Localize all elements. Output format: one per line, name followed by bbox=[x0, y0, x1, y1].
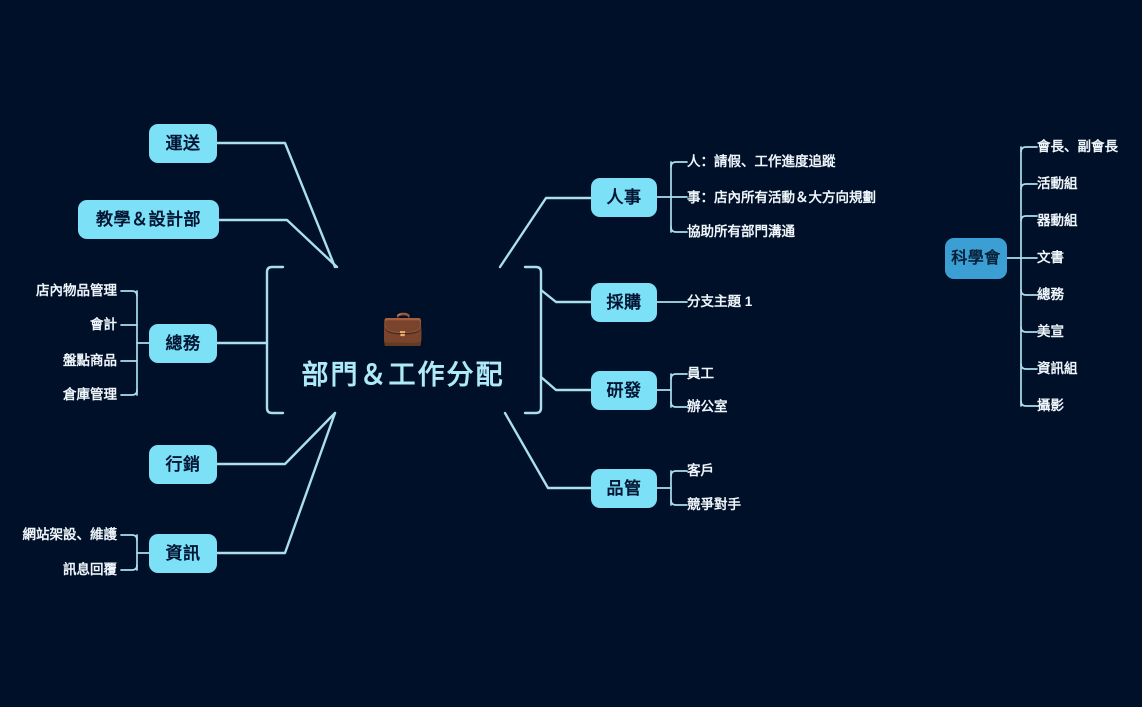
branch-node-marketing[interactable]: 行銷 bbox=[149, 445, 217, 484]
leaf-label: 活動組 bbox=[1037, 176, 1078, 191]
branch-label: 研發 bbox=[607, 382, 642, 399]
leaf-employee[interactable]: 員工 bbox=[687, 367, 714, 381]
leaf-it-group[interactable]: 資訊組 bbox=[1037, 362, 1078, 376]
leaf-documentation[interactable]: 文書 bbox=[1037, 251, 1064, 265]
leaf-label: 協助所有部門溝通 bbox=[687, 224, 795, 239]
branch-node-hr[interactable]: 人事 bbox=[591, 178, 657, 217]
leaf-label: 分支主題 1 bbox=[687, 294, 752, 309]
branch-label: 品管 bbox=[607, 480, 642, 497]
leaf-general-affairs-club[interactable]: 總務 bbox=[1037, 288, 1064, 302]
leaf-label: 店內物品管理 bbox=[36, 283, 117, 298]
branch-node-quality-control[interactable]: 品管 bbox=[591, 469, 657, 508]
leaf-label: 會計 bbox=[90, 317, 117, 332]
leaf-label: 總務 bbox=[1037, 287, 1064, 302]
leaf-label: 客戶 bbox=[687, 463, 714, 478]
leaf-label: 會長、副會長 bbox=[1037, 139, 1118, 154]
leaf-label: 網站架設、維護 bbox=[23, 527, 118, 542]
branch-label: 運送 bbox=[166, 135, 201, 152]
leaf-label: 攝影 bbox=[1037, 398, 1064, 413]
leaf-activity-group[interactable]: 活動組 bbox=[1037, 177, 1078, 191]
branch-label: 資訊 bbox=[166, 545, 201, 562]
leaf-label: 美宣 bbox=[1037, 324, 1064, 339]
leaf-office[interactable]: 辦公室 bbox=[687, 400, 728, 414]
branch-node-teaching-design[interactable]: 教學＆設計部 bbox=[78, 200, 219, 239]
branch-label: 教學＆設計部 bbox=[96, 211, 201, 228]
leaf-stock-count[interactable]: 盤點商品 bbox=[0, 354, 117, 368]
leaf-label: 器動組 bbox=[1037, 213, 1078, 228]
page-title: 部門＆工作分配 bbox=[302, 353, 505, 392]
branch-label: 採購 bbox=[607, 294, 642, 311]
leaf-competitor[interactable]: 競爭對手 bbox=[687, 498, 741, 512]
leaf-label: 辦公室 bbox=[687, 399, 728, 414]
leaf-publicity-art[interactable]: 美宣 bbox=[1037, 325, 1064, 339]
leaf-assist-dept-communication[interactable]: 協助所有部門溝通 bbox=[687, 225, 795, 239]
leaf-label: 倉庫管理 bbox=[63, 387, 117, 402]
leaf-label: 競爭對手 bbox=[687, 497, 741, 512]
branch-node-it[interactable]: 資訊 bbox=[149, 534, 217, 573]
branch-node-science-club[interactable]: 科學會 bbox=[945, 238, 1007, 279]
leaf-label: 員工 bbox=[687, 366, 714, 381]
branch-label: 行銷 bbox=[166, 456, 201, 473]
leaf-label: 文書 bbox=[1037, 250, 1064, 265]
leaf-photography[interactable]: 攝影 bbox=[1037, 399, 1064, 413]
branch-label: 人事 bbox=[607, 189, 642, 206]
leaf-message-reply[interactable]: 訊息回覆 bbox=[0, 563, 117, 577]
leaf-accounting[interactable]: 會計 bbox=[0, 318, 117, 332]
leaf-label: 訊息回覆 bbox=[63, 562, 117, 577]
leaf-equipment-group[interactable]: 器動組 bbox=[1037, 214, 1078, 228]
leaf-store-item-management[interactable]: 店內物品管理 bbox=[0, 284, 117, 298]
leaf-people-leave-progress[interactable]: 人：請假、工作進度追蹤 bbox=[687, 155, 836, 169]
leaf-label: 事：店內所有活動＆大方向規劃 bbox=[687, 190, 876, 205]
leaf-warehouse-management[interactable]: 倉庫管理 bbox=[0, 388, 117, 402]
briefcase-icon: 💼 bbox=[382, 311, 424, 345]
branch-label: 總務 bbox=[166, 335, 201, 352]
branch-node-purchasing[interactable]: 採購 bbox=[591, 283, 657, 322]
leaf-president-vice-president[interactable]: 會長、副會長 bbox=[1037, 140, 1118, 154]
leaf-label: 盤點商品 bbox=[63, 353, 117, 368]
root-node[interactable]: 💼 部門＆工作分配 bbox=[266, 295, 540, 407]
mindmap-canvas: 💼 部門＆工作分配 運送 教學＆設計部 總務 行銷 資訊 店內物品管理 會計 盤… bbox=[0, 0, 1142, 707]
leaf-events-direction-planning[interactable]: 事：店內所有活動＆大方向規劃 bbox=[687, 191, 876, 205]
branch-label: 科學會 bbox=[951, 251, 1001, 267]
branch-node-transport[interactable]: 運送 bbox=[149, 124, 217, 163]
branch-node-general-affairs[interactable]: 總務 bbox=[149, 324, 217, 363]
leaf-label: 人：請假、工作進度追蹤 bbox=[687, 154, 836, 169]
leaf-website-build-maintain[interactable]: 網站架設、維護 bbox=[0, 528, 117, 542]
leaf-customer[interactable]: 客戶 bbox=[687, 464, 714, 478]
leaf-branch-topic-1[interactable]: 分支主題 1 bbox=[687, 295, 752, 309]
branch-node-rnd[interactable]: 研發 bbox=[591, 371, 657, 410]
leaf-label: 資訊組 bbox=[1037, 361, 1078, 376]
